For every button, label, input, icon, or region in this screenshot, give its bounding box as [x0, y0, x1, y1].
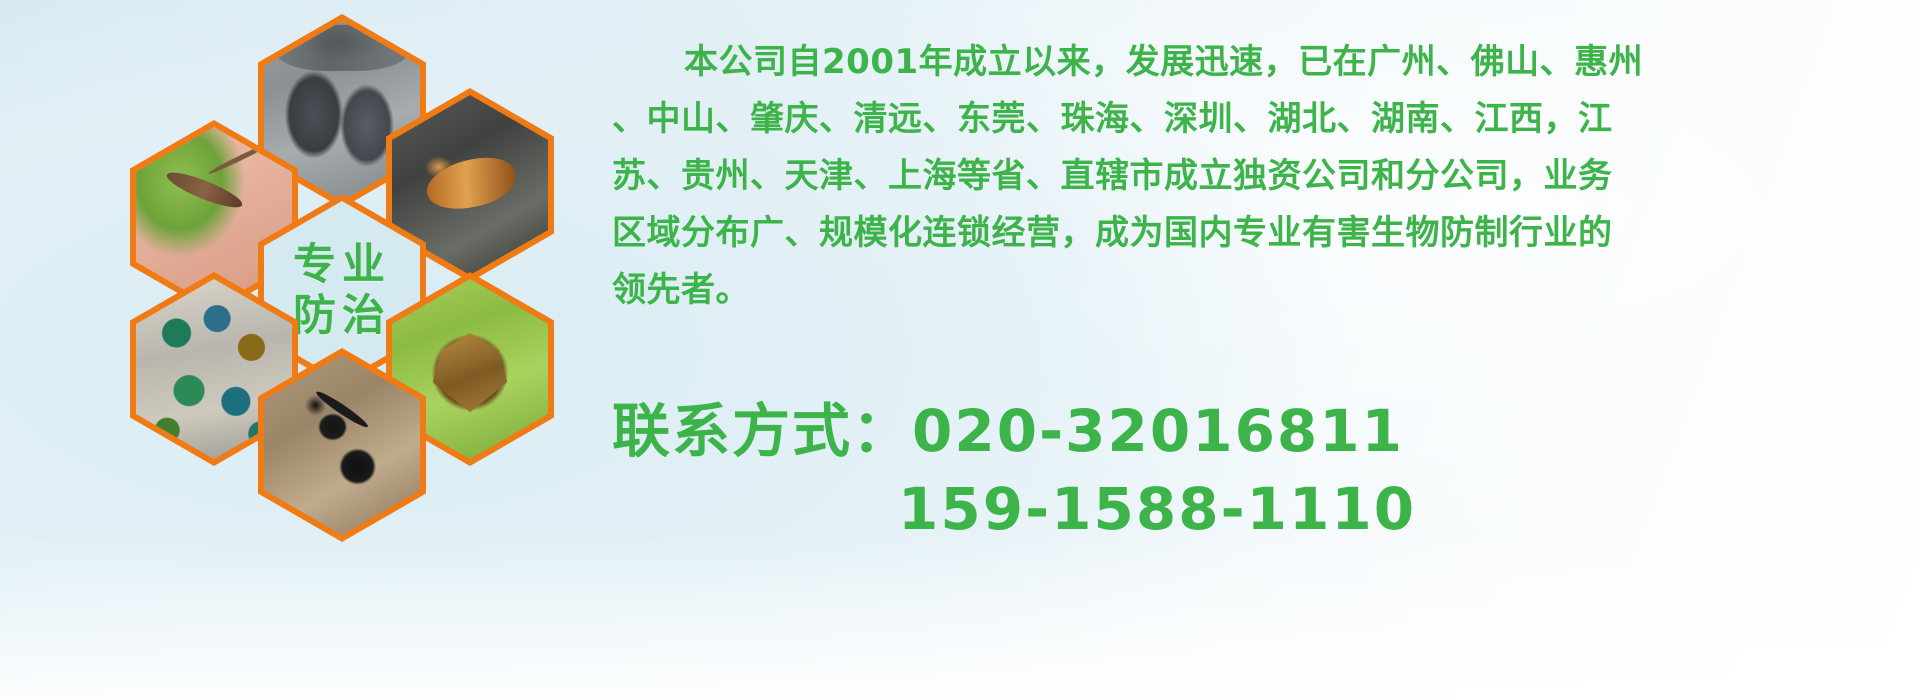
intro-line-4: 区域分布广、规模化连锁经营，成为国内专业有害生物防制行业的 [612, 205, 1912, 262]
intro-line-2: 、中山、肇庆、清远、东莞、珠海、深圳、湖北、湖南、江西，江 [612, 91, 1912, 148]
badge-line-1: 专业 [293, 240, 391, 291]
hexagon-photo-cluster: 专业 防治 [96, 10, 596, 570]
pest-control-banner: 专业 防治 本公司自2001年成立以来，发展迅速，已在广州、佛山、惠州 、中山、… [0, 0, 1920, 700]
badge-line-2: 防治 [293, 291, 391, 342]
contact-mobile[interactable]: 159-1588-1110 [612, 470, 1912, 548]
contact-landline[interactable]: 联系方式：020-32016811 [612, 392, 1912, 470]
contact-block: 联系方式：020-32016811 159-1588-1110 [612, 392, 1912, 548]
intro-line-5: 领先者。 [612, 262, 1912, 319]
hex-ant-photo-inner [264, 355, 420, 535]
text-content: 本公司自2001年成立以来，发展迅速，已在广州、佛山、惠州 、中山、肇庆、清远、… [612, 0, 1920, 700]
company-intro-paragraph: 本公司自2001年成立以来，发展迅速，已在广州、佛山、惠州 、中山、肇庆、清远、… [612, 34, 1912, 319]
intro-line-1: 本公司自2001年成立以来，发展迅速，已在广州、佛山、惠州 [612, 34, 1912, 91]
badge-text: 专业 防治 [293, 240, 391, 341]
ant-image [264, 355, 420, 535]
intro-line-3: 苏、贵州、天津、上海等省、直辖市成立独资公司和分公司，业务 [612, 148, 1912, 205]
